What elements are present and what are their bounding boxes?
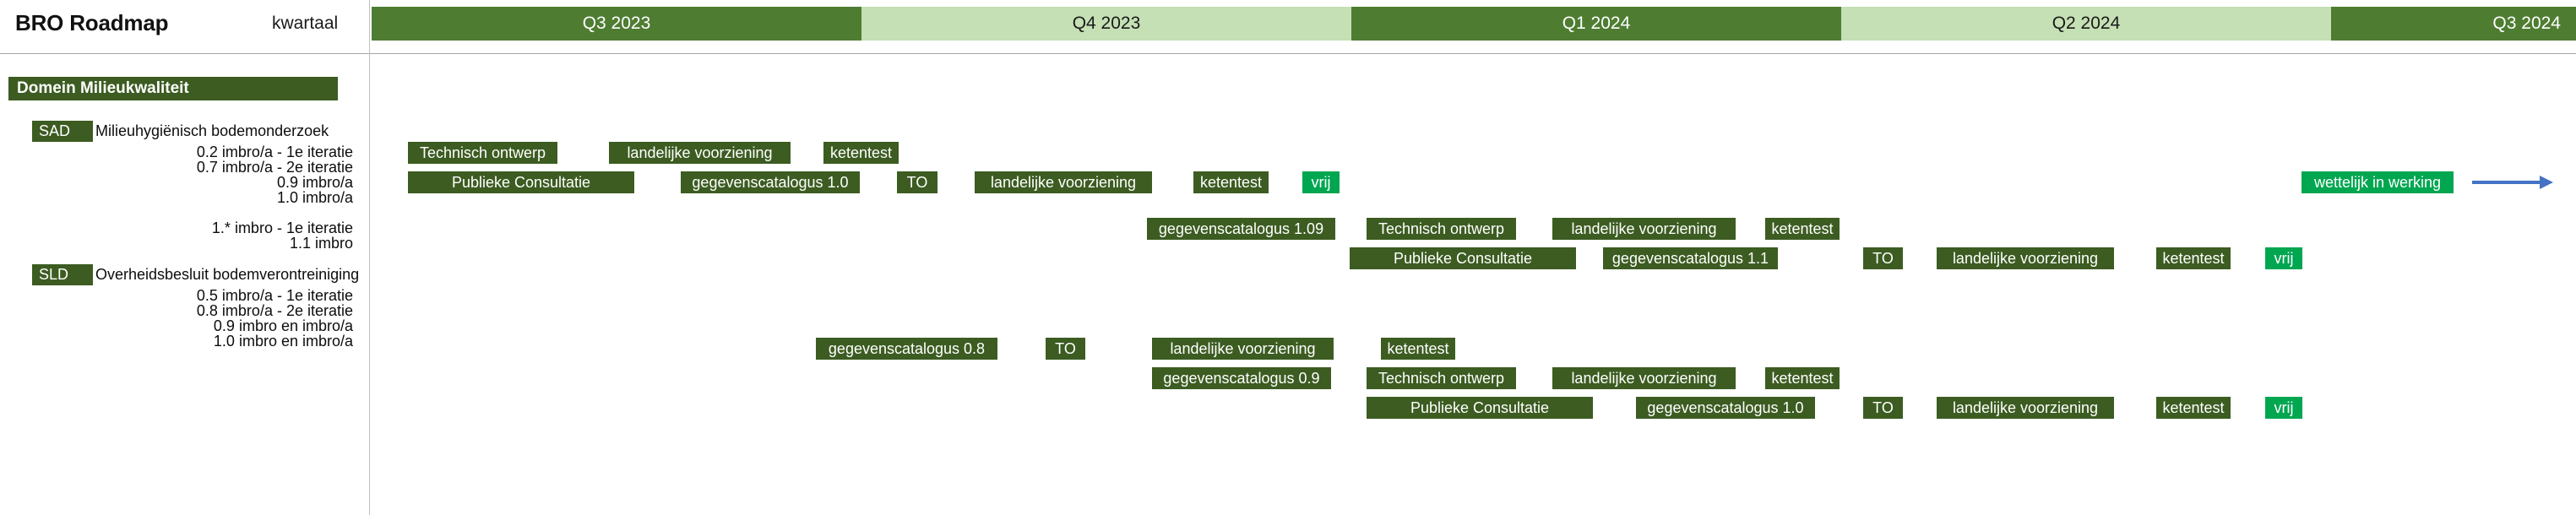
task-bar[interactable]: TO bbox=[897, 171, 937, 193]
quarter-header-q3-2023: Q3 2023 bbox=[372, 7, 861, 41]
task-bar[interactable]: TO bbox=[1046, 338, 1085, 360]
task-bar[interactable]: Technisch ontwerp bbox=[1367, 218, 1516, 240]
task-bar[interactable]: Publieke Consultatie bbox=[1350, 247, 1576, 269]
timeline: Technisch ontwerplandelijke voorzieningk… bbox=[0, 53, 2576, 515]
task-bar[interactable]: gegevenscatalogus 1.0 bbox=[1636, 397, 1815, 419]
arrow-head bbox=[2540, 176, 2553, 189]
task-bar[interactable]: ketentest bbox=[1765, 218, 1840, 240]
task-bar[interactable]: TO bbox=[1863, 397, 1903, 419]
task-bar[interactable]: ketentest bbox=[1765, 367, 1840, 389]
task-bar[interactable]: landelijke voorziening bbox=[975, 171, 1152, 193]
task-bar[interactable]: gegevenscatalogus 1.1 bbox=[1603, 247, 1778, 269]
task-bar[interactable]: landelijke voorziening bbox=[1552, 218, 1736, 240]
quarter-header-q4-2023: Q4 2023 bbox=[861, 7, 1351, 41]
task-bar[interactable]: Publieke Consultatie bbox=[408, 171, 634, 193]
task-bar[interactable]: gegevenscatalogus 1.0 bbox=[681, 171, 860, 193]
continuation-arrow-icon bbox=[2472, 171, 2553, 193]
quarter-header-q1-2024: Q1 2024 bbox=[1351, 7, 1841, 41]
roadmap-page: BRO Roadmap kwartaal Q3 2023Q4 2023Q1 20… bbox=[0, 0, 2576, 515]
task-bar[interactable]: ketentest bbox=[823, 142, 899, 164]
task-bar[interactable]: wettelijk in werking bbox=[2302, 171, 2454, 193]
task-bar[interactable]: gegevenscatalogus 0.9 bbox=[1152, 367, 1331, 389]
quarter-header-band: Q3 2023Q4 2023Q1 2024Q2 2024Q3 2024 bbox=[372, 7, 2576, 41]
task-bar[interactable]: TO bbox=[1863, 247, 1903, 269]
task-bar[interactable]: gegevenscatalogus 0.8 bbox=[816, 338, 997, 360]
task-bar[interactable]: vrij bbox=[2265, 247, 2302, 269]
task-bar[interactable]: landelijke voorziening bbox=[1937, 397, 2114, 419]
page-title: BRO Roadmap bbox=[15, 10, 168, 36]
task-bar[interactable]: ketentest bbox=[2156, 397, 2231, 419]
task-bar[interactable]: landelijke voorziening bbox=[1152, 338, 1334, 360]
task-bar[interactable]: ketentest bbox=[1381, 338, 1455, 360]
quarter-header-q2-2024: Q2 2024 bbox=[1841, 7, 2331, 41]
task-bar[interactable]: landelijke voorziening bbox=[609, 142, 791, 164]
task-bar[interactable]: vrij bbox=[2265, 397, 2302, 419]
quarter-header-q3-2024: Q3 2024 bbox=[2331, 7, 2576, 41]
arrow-shaft bbox=[2472, 181, 2540, 184]
task-bar[interactable]: gegevenscatalogus 1.09 bbox=[1147, 218, 1335, 240]
task-bar[interactable]: landelijke voorziening bbox=[1552, 367, 1736, 389]
task-bar[interactable]: Technisch ontwerp bbox=[408, 142, 557, 164]
timescale-label: kwartaal bbox=[272, 14, 338, 34]
task-bar[interactable]: vrij bbox=[1302, 171, 1340, 193]
task-bar[interactable]: landelijke voorziening bbox=[1937, 247, 2114, 269]
task-bar[interactable]: Publieke Consultatie bbox=[1367, 397, 1593, 419]
task-bar[interactable]: Technisch ontwerp bbox=[1367, 367, 1516, 389]
task-bar[interactable]: ketentest bbox=[1193, 171, 1269, 193]
header: BRO Roadmap kwartaal Q3 2023Q4 2023Q1 20… bbox=[0, 0, 2576, 47]
task-bar[interactable]: ketentest bbox=[2156, 247, 2231, 269]
